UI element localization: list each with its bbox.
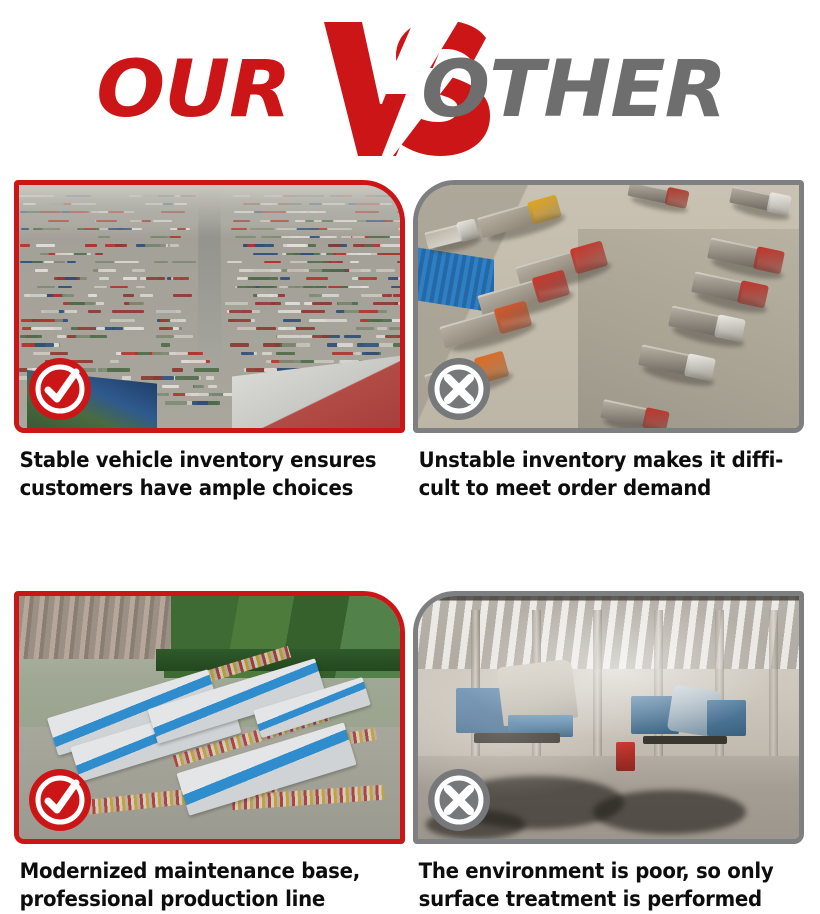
panel-caption: Modernized maintenance base, professiona… — [14, 858, 382, 914]
panel-our-maintenance: Modernized maintenance base, professiona… — [14, 591, 405, 914]
panel-our-inventory: Stable vehicle inventory ensures custome… — [14, 180, 405, 503]
cross-badge-icon — [428, 358, 490, 420]
our-label: OUR — [96, 51, 290, 129]
photo-frame — [413, 591, 804, 844]
comparison-grid: Stable vehicle inventory ensures custome… — [0, 180, 820, 914]
check-badge-icon — [29, 769, 91, 831]
comparison-header: OUR OTHER — [0, 0, 820, 180]
panel-caption: The environment is poor, so only surface… — [413, 858, 781, 914]
photo-frame — [14, 591, 405, 844]
panel-caption: Unstable inventory makes it diffi- cult … — [413, 447, 781, 503]
panel-caption: Stable vehicle inventory ensures custome… — [14, 447, 382, 503]
panel-other-inventory: Unstable inventory makes it diffi- cult … — [413, 180, 804, 503]
check-badge-icon — [29, 358, 91, 420]
panel-other-environment: The environment is poor, so only surface… — [413, 591, 804, 914]
other-label: OTHER — [421, 51, 726, 129]
photo-frame — [413, 180, 804, 433]
photo-frame — [14, 180, 405, 433]
cross-badge-icon — [428, 769, 490, 831]
